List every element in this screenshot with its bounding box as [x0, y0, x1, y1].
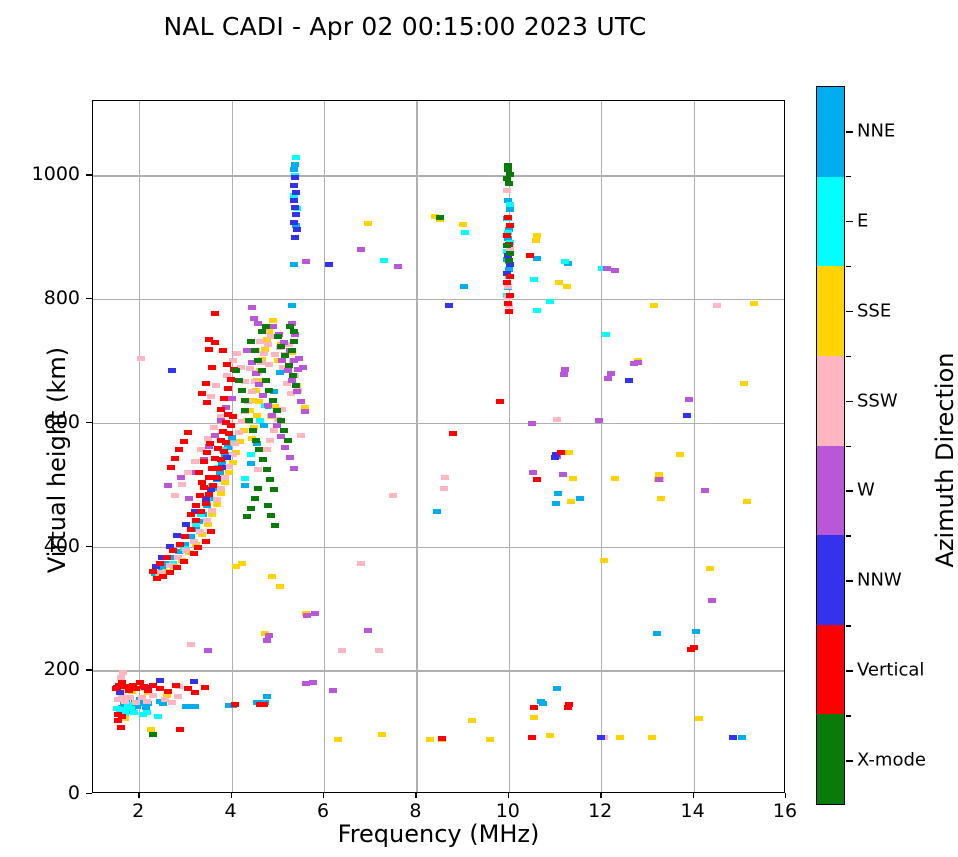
ionogram-figure: NAL CADI - Apr 02 00:15:00 2023 UTC Freq… [0, 0, 958, 857]
colorbar-tick [846, 670, 853, 672]
data-point-vertical [187, 512, 195, 517]
data-point-nnw [173, 533, 181, 538]
data-point-nnw [729, 735, 737, 740]
y-tick-label: 200 [0, 658, 80, 680]
data-point-vertical [533, 477, 541, 482]
data-point-x-mode [255, 447, 263, 452]
data-point-sse [750, 301, 758, 306]
data-point-vertical [201, 685, 209, 690]
colorbar-tick [846, 401, 853, 403]
data-point-sse [459, 222, 467, 227]
data-point-ssw [266, 438, 274, 443]
grid-line-vertical [601, 101, 602, 792]
data-point-vertical [164, 689, 172, 694]
data-point-ssw [187, 642, 195, 647]
data-point-vertical [209, 483, 217, 488]
data-point-e [380, 258, 388, 263]
data-point-vertical [181, 534, 189, 539]
data-point-w [394, 264, 402, 269]
data-point-w [311, 611, 319, 616]
data-point-x-mode [503, 243, 511, 248]
x-tick [508, 793, 509, 798]
data-point-vertical [503, 233, 511, 238]
data-point-w [701, 488, 709, 493]
data-point-ssw [297, 433, 305, 438]
colorbar-segment-nnw[interactable] [817, 535, 844, 625]
colorbar-tick [846, 760, 853, 762]
colorbar-tick [846, 221, 853, 223]
data-point-vertical [231, 702, 239, 707]
data-point-e [533, 308, 541, 313]
data-point-sse [611, 476, 619, 481]
data-point-w [228, 396, 236, 401]
data-point-sse [255, 399, 263, 404]
data-point-vertical [163, 555, 171, 560]
data-point-vertical [506, 223, 514, 228]
data-point-sse [268, 574, 276, 579]
data-point-vertical [180, 559, 188, 564]
data-point-vertical [172, 683, 180, 688]
data-point-x-mode [265, 388, 273, 393]
colorbar-tick-label-nne: NNE [857, 120, 895, 141]
data-point-vertical [207, 529, 215, 534]
data-point-sse [221, 480, 229, 485]
data-point-ssw [203, 518, 211, 523]
data-point-sse [695, 716, 703, 721]
data-point-ssw [260, 351, 268, 356]
data-point-x-mode [238, 388, 246, 393]
data-point-sse [657, 496, 665, 501]
data-point-x-mode [269, 398, 277, 403]
data-point-vertical [202, 381, 210, 386]
data-point-e [461, 230, 469, 235]
data-point-ssw [233, 351, 241, 356]
data-point-vertical [171, 456, 179, 461]
data-point-x-mode [270, 487, 278, 492]
data-point-w [269, 324, 277, 329]
data-point-w [309, 680, 317, 685]
data-point-w [177, 475, 185, 480]
data-point-vertical [117, 725, 125, 730]
data-point-vertical [506, 274, 514, 279]
data-point-w [595, 418, 603, 423]
x-tick-label: 4 [225, 800, 237, 822]
data-point-vertical [196, 493, 204, 498]
data-point-w [528, 421, 536, 426]
data-point-sse [276, 584, 284, 589]
data-point-sse [616, 735, 624, 740]
data-point-w [297, 399, 305, 404]
data-point-ssw [143, 699, 151, 704]
data-point-w [268, 413, 276, 418]
data-point-vertical [176, 727, 184, 732]
data-point-ssw [168, 700, 176, 705]
data-point-vertical [176, 542, 184, 547]
data-point-nne [552, 501, 560, 506]
data-point-x-mode [235, 378, 243, 383]
data-point-sse [600, 558, 608, 563]
data-point-vertical [211, 311, 219, 316]
data-point-x-mode [262, 324, 270, 329]
x-tick [323, 793, 324, 798]
data-point-ssw [208, 508, 216, 513]
data-point-sse [269, 318, 277, 323]
data-point-ssw [713, 303, 721, 308]
data-point-nnw [292, 190, 300, 195]
data-point-ssw [263, 447, 271, 452]
data-point-w [290, 466, 298, 471]
y-tick [86, 546, 92, 547]
data-point-e [292, 155, 300, 160]
data-point-nne [738, 735, 746, 740]
data-point-e [154, 714, 162, 719]
data-point-sse [648, 735, 656, 740]
colorbar-tick-label-e: E [857, 210, 868, 231]
data-point-w [293, 389, 301, 394]
data-point-nnw [597, 735, 605, 740]
data-point-nne [554, 491, 562, 496]
grid-line-horizontal [93, 423, 784, 424]
data-point-x-mode [251, 496, 259, 501]
data-point-nnw [290, 198, 298, 203]
data-point-sse [743, 499, 751, 504]
colorbar-boundary-tick [846, 356, 851, 358]
x-tick-label: 14 [681, 800, 705, 822]
data-point-vertical [169, 548, 177, 553]
data-point-vertical [222, 420, 230, 425]
data-point-vertical [198, 391, 206, 396]
data-point-vertical [260, 702, 268, 707]
data-point-w [204, 648, 212, 653]
colorbar-boundary-tick [846, 625, 851, 627]
data-point-x-mode [289, 373, 297, 378]
data-point-ssw [174, 694, 182, 699]
x-tick-label: 6 [317, 800, 329, 822]
data-point-vertical [208, 466, 216, 471]
data-point-ssw [441, 475, 449, 480]
data-point-sse [740, 381, 748, 386]
data-point-w [560, 372, 568, 377]
data-point-nne [191, 704, 199, 709]
data-point-nne [553, 686, 561, 691]
colorbar-tick [846, 311, 853, 313]
data-point-x-mode [273, 408, 281, 413]
data-point-x-mode [258, 368, 266, 373]
data-point-sse [530, 715, 538, 720]
data-point-w [561, 367, 569, 372]
data-point-sse [706, 566, 714, 571]
data-point-x-mode [274, 334, 282, 339]
colorbar-segment-w[interactable] [817, 446, 844, 536]
data-point-nnw [290, 183, 298, 188]
data-point-x-mode [281, 353, 289, 358]
y-tick-label: 600 [0, 411, 80, 433]
colorbar-tick-label-vertical: Vertical [857, 660, 924, 681]
colorbar-segment-e[interactable] [817, 177, 844, 267]
data-point-vertical [205, 337, 213, 342]
data-point-vertical [214, 446, 222, 451]
data-point-x-mode [259, 457, 267, 462]
data-point-vertical [114, 718, 122, 723]
data-point-vertical [190, 551, 198, 556]
data-point-x-mode [254, 486, 262, 491]
data-point-ssw [184, 470, 192, 475]
x-tick [785, 793, 786, 798]
x-tick-label: 10 [496, 800, 520, 822]
data-point-vertical [156, 561, 164, 566]
x-tick [231, 793, 232, 798]
data-point-vertical [167, 465, 175, 470]
data-point-vertical [219, 429, 227, 434]
data-point-w [529, 470, 537, 475]
data-point-vertical [114, 712, 122, 717]
data-point-ssw [265, 362, 273, 367]
data-point-sse [238, 561, 246, 566]
data-point-w [299, 365, 307, 370]
data-point-vertical [200, 485, 208, 490]
data-point-w [634, 360, 642, 365]
grid-line-vertical [694, 101, 695, 792]
data-point-sse [546, 733, 554, 738]
data-point-vertical [173, 565, 181, 570]
x-axis-label: Frequency (MHz) [92, 820, 785, 848]
grid-line-vertical [324, 101, 325, 792]
data-point-vertical [449, 431, 457, 436]
data-point-vertical [175, 447, 183, 452]
x-tick [415, 793, 416, 798]
y-tick [86, 298, 92, 299]
data-point-sse [334, 737, 342, 742]
data-point-sse [567, 499, 575, 504]
data-point-ssw [221, 475, 229, 480]
colorbar-tick-label-nnw: NNW [857, 570, 902, 591]
data-point-vertical [206, 441, 214, 446]
colorbar-segment-ssw[interactable] [817, 356, 844, 446]
colorbar-tick [846, 490, 853, 492]
data-point-vertical [438, 736, 446, 741]
data-point-x-mode [252, 438, 260, 443]
data-point-vertical [200, 459, 208, 464]
x-tick-label: 2 [132, 800, 144, 822]
colorbar-segment-vertical[interactable] [817, 625, 844, 715]
plot-area [92, 100, 785, 793]
data-point-x-mode [505, 258, 513, 263]
data-point-sse [426, 737, 434, 742]
data-point-sse [555, 280, 563, 285]
data-point-ssw [191, 459, 199, 464]
colorbar-segment-sse[interactable] [817, 266, 844, 356]
data-point-vertical [205, 347, 213, 352]
colorbar-tick [846, 131, 853, 133]
data-point-vertical [208, 365, 216, 370]
data-point-nne [506, 207, 514, 212]
data-point-nnw [168, 368, 176, 373]
data-point-vertical [227, 377, 235, 382]
data-point-ssw [190, 539, 198, 544]
data-point-ssw [256, 339, 264, 344]
data-point-w [708, 598, 716, 603]
data-point-vertical [203, 400, 211, 405]
data-point-ssw [553, 417, 561, 422]
colorbar-segment-nne[interactable] [817, 87, 844, 177]
data-point-nne [692, 629, 700, 634]
data-point-vertical [506, 293, 514, 298]
data-point-x-mode [504, 163, 512, 168]
data-point-vertical [504, 215, 512, 220]
data-point-e [130, 710, 138, 715]
data-point-x-mode [286, 324, 294, 329]
colorbar-boundary-tick [846, 535, 851, 537]
data-point-vertical [220, 396, 228, 401]
data-point-ssw [212, 383, 220, 388]
data-point-nnw [156, 678, 164, 683]
data-point-ssw [207, 394, 215, 399]
data-point-ssw [270, 428, 278, 433]
x-tick-label: 16 [773, 800, 797, 822]
data-point-nnw [290, 220, 298, 225]
data-point-w [603, 266, 611, 271]
data-point-x-mode [263, 467, 271, 472]
data-point-ssw [338, 648, 346, 653]
x-tick [600, 793, 601, 798]
data-point-vertical [198, 480, 206, 485]
data-point-x-mode [232, 368, 240, 373]
data-point-e [241, 476, 249, 481]
data-point-vertical [153, 576, 161, 581]
data-point-x-mode [292, 383, 300, 388]
data-point-ssw [248, 389, 256, 394]
data-point-w [185, 496, 193, 501]
data-point-vertical [224, 386, 232, 391]
data-point-nnw [190, 679, 198, 684]
data-point-w [302, 259, 310, 264]
x-tick-label: 12 [588, 800, 612, 822]
data-point-nne [260, 423, 268, 428]
data-point-nnw [291, 235, 299, 240]
data-point-vertical [195, 470, 203, 475]
data-point-x-mode [247, 506, 255, 511]
data-point-vertical [217, 438, 225, 443]
data-point-sse [378, 732, 386, 737]
data-point-vertical [205, 492, 213, 497]
data-point-vertical [191, 690, 199, 695]
data-point-ssw [235, 430, 243, 435]
data-point-ssw [389, 493, 397, 498]
data-point-sse [253, 413, 261, 418]
x-tick-label: 8 [409, 800, 421, 822]
data-point-x-mode [505, 181, 513, 186]
data-point-e [256, 418, 264, 423]
colorbar-segment-x-mode[interactable] [817, 714, 844, 804]
grid-line-horizontal [93, 670, 784, 671]
data-point-w [655, 477, 663, 482]
data-point-nnw [292, 212, 300, 217]
data-point-vertical [194, 545, 202, 550]
data-point-vertical [202, 501, 210, 506]
y-tick [86, 174, 92, 175]
data-point-sse [532, 238, 540, 243]
data-point-w [685, 397, 693, 402]
data-point-vertical [192, 518, 200, 523]
data-point-nnw [625, 378, 633, 383]
data-point-x-mode [290, 329, 298, 334]
data-point-w [559, 472, 567, 477]
y-tick-label: 0 [0, 782, 80, 804]
data-point-w [281, 445, 289, 450]
data-point-w [364, 628, 372, 633]
data-point-e [247, 452, 255, 457]
data-point-nne [653, 631, 661, 636]
data-point-x-mode [290, 339, 298, 344]
data-point-x-mode [241, 408, 249, 413]
colorbar-tick-label-sse: SSE [857, 300, 891, 321]
data-point-x-mode [284, 438, 292, 443]
data-point-vertical [690, 645, 698, 650]
data-point-nne [247, 461, 255, 466]
data-point-e [546, 299, 554, 304]
data-point-vertical [505, 309, 513, 314]
data-point-nne [276, 370, 284, 375]
data-point-w [604, 376, 612, 381]
data-point-sse [676, 452, 684, 457]
data-point-x-mode [271, 523, 279, 528]
data-point-w [611, 268, 619, 273]
colorbar[interactable] [816, 86, 845, 805]
data-point-ssw [440, 486, 448, 491]
y-tick [86, 669, 92, 670]
data-point-ssw [213, 497, 221, 502]
data-point-sse [213, 502, 221, 507]
data-point-sse [468, 718, 476, 723]
data-point-x-mode [267, 513, 275, 518]
data-point-nne [539, 701, 547, 706]
data-point-x-mode [249, 428, 257, 433]
data-point-sse [569, 476, 577, 481]
data-point-x-mode [280, 428, 288, 433]
data-point-vertical [530, 705, 538, 710]
data-point-vertical [496, 399, 504, 404]
data-point-ssw [503, 188, 511, 193]
data-point-vertical [557, 450, 565, 455]
data-point-nne [263, 694, 271, 699]
data-point-e [561, 259, 569, 264]
y-axis-label: Virtual height (km) [43, 310, 71, 610]
data-point-ssw [119, 670, 127, 675]
data-point-nne [290, 262, 298, 267]
data-point-w [607, 371, 615, 376]
data-point-w [295, 356, 303, 361]
data-point-nnw [293, 227, 301, 232]
data-point-ssw [217, 486, 225, 491]
data-point-x-mode [243, 514, 251, 519]
data-point-sse [650, 303, 658, 308]
data-point-ssw [132, 700, 140, 705]
colorbar-boundary-tick [846, 446, 851, 448]
data-point-nne [433, 509, 441, 514]
data-point-vertical [211, 456, 219, 461]
data-point-x-mode [277, 418, 285, 423]
data-point-ssw [149, 693, 157, 698]
colorbar-boundary-tick [846, 266, 851, 268]
data-point-vertical [149, 569, 157, 574]
data-point-vertical [526, 253, 534, 258]
data-point-ssw [264, 342, 272, 347]
colorbar-tick-label-x-mode: X-mode [857, 750, 926, 771]
data-point-x-mode [264, 503, 272, 508]
data-point-x-mode [241, 398, 249, 403]
data-point-sse [565, 450, 573, 455]
y-tick-label: 400 [0, 535, 80, 557]
